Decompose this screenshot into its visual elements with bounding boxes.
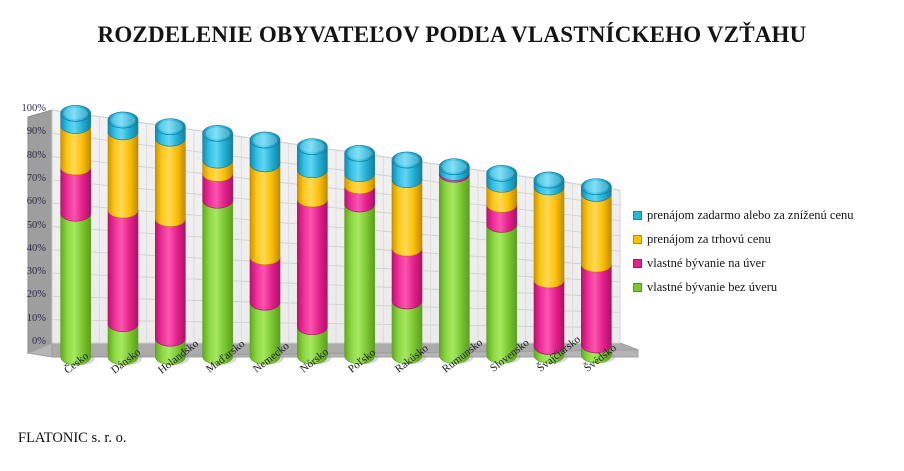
chart-plot-area: 100%90%80%70%60%50%40%30%20%10%0% ČeskoD… xyxy=(0,95,640,355)
legend-item[interactable]: prenájom zadarmo alebo za zníženú cenu xyxy=(633,205,898,226)
legend-item[interactable]: vlastné bývanie na úver xyxy=(633,253,898,274)
x-axis-tick: Nórsko xyxy=(298,346,331,375)
footer-company-name: FLATONIC s. r. o. xyxy=(18,430,127,447)
x-axis-tick: Rakúsko xyxy=(393,342,431,375)
x-axis-tick: Poľsko xyxy=(346,347,378,376)
legend-label: prenájom za trhovú cenu xyxy=(647,232,771,247)
x-axis-tick: Dánsko xyxy=(109,346,143,376)
legend-label: vlastné bývanie na úver xyxy=(647,256,765,271)
legend-swatch-orange xyxy=(633,235,642,244)
x-axis-labels: ČeskoDánskoHolandskoMaďarskoNemeckoNórsk… xyxy=(0,95,640,455)
legend-label: prenájom zadarmo alebo za zníženú cenu xyxy=(647,208,854,223)
x-axis-tick: Švédsko xyxy=(582,342,619,374)
legend-swatch-green xyxy=(633,283,642,292)
legend-swatch-blue xyxy=(633,211,642,220)
page-title: ROZDELENIE OBYVATEĽOV PODĽA VLASTNÍCKEHO… xyxy=(0,22,904,48)
x-axis-tick: Slovensko xyxy=(488,337,532,375)
x-axis-tick: Maďarsko xyxy=(204,338,247,376)
x-axis-tick: Rumunsko xyxy=(440,336,485,375)
legend-item[interactable]: vlastné bývanie bez úveru xyxy=(633,277,898,298)
legend-swatch-magenta xyxy=(633,259,642,268)
legend-item[interactable]: prenájom za trhovú cenu xyxy=(633,229,898,250)
chart-legend: prenájom zadarmo alebo za zníženú cenu p… xyxy=(633,205,898,301)
legend-label: vlastné bývanie bez úveru xyxy=(647,280,777,295)
x-axis-tick: Česko xyxy=(62,350,91,376)
x-axis-tick: Holandsko xyxy=(156,337,201,376)
x-axis-tick: Nemecko xyxy=(251,340,292,375)
x-axis-tick: Švajčiarsko xyxy=(535,334,583,375)
